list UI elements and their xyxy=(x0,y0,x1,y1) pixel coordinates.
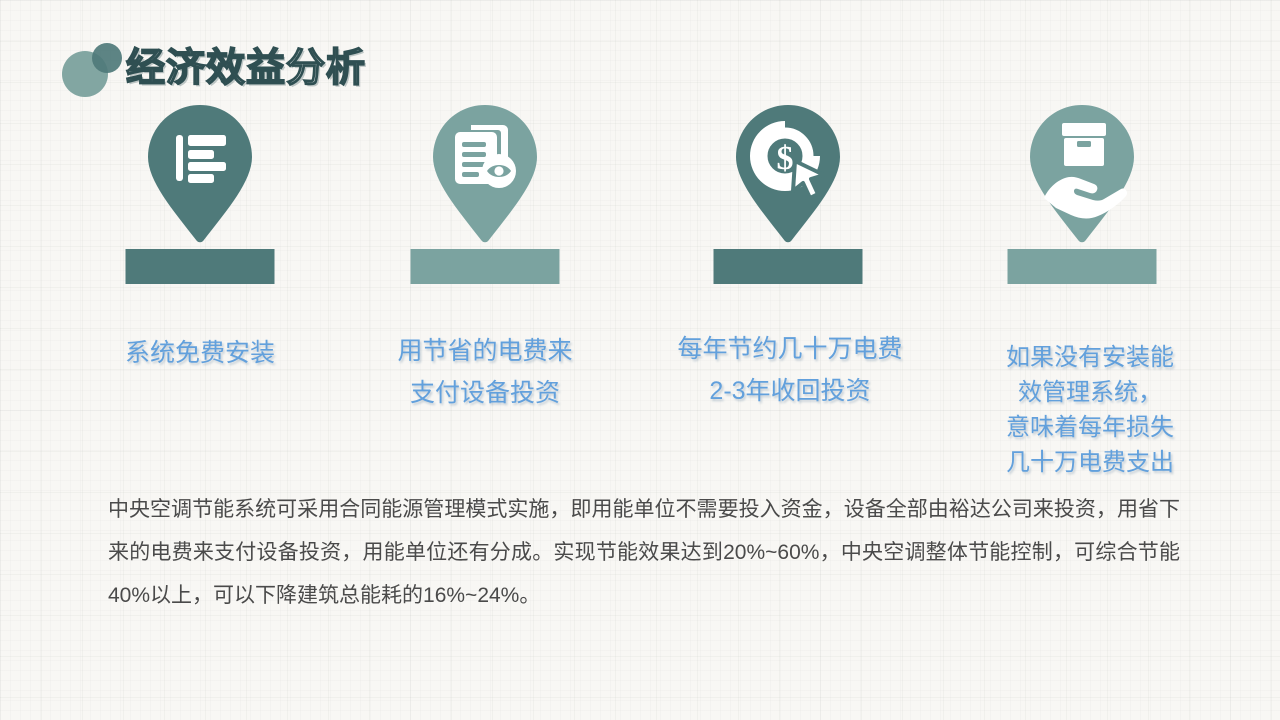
title-decoration xyxy=(62,43,128,95)
caption-row: 系统免费安装 用节省的电费来 支付设备投资 每年节约几十万电费 2-3年收回投资… xyxy=(0,318,1280,478)
caption-3-line-1: 每年节约几十万电费 xyxy=(630,328,950,370)
caption-1: 系统免费安装 xyxy=(60,332,340,374)
map-pin-3[interactable]: $ xyxy=(736,105,840,243)
map-pin-4[interactable] xyxy=(1030,105,1134,243)
caption-4-line-1: 如果没有安装能 xyxy=(955,340,1225,375)
pin-column-4[interactable] xyxy=(982,105,1182,295)
body-paragraph: 中央空调节能系统可采用合同能源管理模式实施，即用能单位不需要投入资金，设备全部由… xyxy=(108,488,1180,617)
pedestal-1 xyxy=(126,249,275,284)
caption-1-line-1: 系统免费安装 xyxy=(60,332,340,374)
document-review-eye-icon xyxy=(455,125,516,188)
caption-3-line-2: 2-3年收回投资 xyxy=(630,370,950,412)
caption-2-line-1: 用节省的电费来 xyxy=(345,330,625,372)
caption-2-line-2: 支付设备投资 xyxy=(345,372,625,414)
pin-column-1[interactable] xyxy=(100,105,300,295)
pedestal-2 xyxy=(411,249,560,284)
circle-small-icon xyxy=(92,43,122,73)
caption-4: 如果没有安装能 效管理系统， 意味着每年损失 几十万电费支出 xyxy=(955,340,1225,480)
page-title: 经济效益分析 xyxy=(126,45,366,93)
pedestal-3 xyxy=(714,249,863,284)
pin-column-2[interactable] xyxy=(385,105,585,295)
svg-text:$: $ xyxy=(777,140,794,177)
caption-4-line-4: 几十万电费支出 xyxy=(955,445,1225,480)
caption-4-line-2: 效管理系统， xyxy=(955,375,1225,410)
caption-4-line-3: 意味着每年损失 xyxy=(955,410,1225,445)
pin-row: $ xyxy=(0,105,1280,295)
map-pin-2[interactable] xyxy=(433,105,537,243)
pedestal-4 xyxy=(1008,249,1157,284)
slide-canvas: 经济效益分析 xyxy=(0,0,1280,720)
map-pin-1[interactable] xyxy=(148,105,252,243)
caption-2: 用节省的电费来 支付设备投资 xyxy=(345,330,625,414)
body-paragraph-block: 中央空调节能系统可采用合同能源管理模式实施，即用能单位不需要投入资金，设备全部由… xyxy=(108,488,1180,617)
pin-column-3[interactable]: $ xyxy=(688,105,888,295)
caption-3: 每年节约几十万电费 2-3年收回投资 xyxy=(630,328,950,412)
